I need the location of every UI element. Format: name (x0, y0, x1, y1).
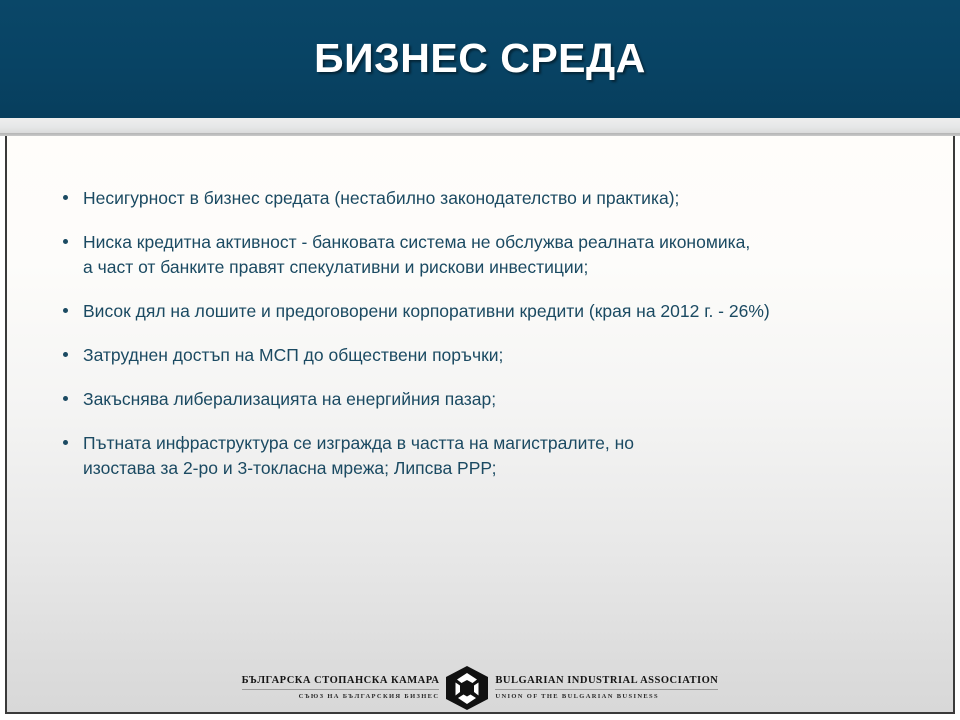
list-item: Висок дял на лошите и предоговорени корп… (59, 299, 939, 324)
list-item-text: Закъснява либерализацията на енергийния … (83, 387, 939, 412)
list-item: Несигурност в бизнес средата (нестабилно… (59, 186, 939, 211)
logo-text-english: BULGARIAN INDUSTRIAL ASSOCIATION UNION O… (490, 675, 718, 701)
logo-bulgarian-primary: БЪЛГАРСКА СТОПАНСКА КАМАРА (242, 675, 440, 687)
slide-header-band: БИЗНЕС СРЕДА (0, 0, 960, 118)
list-item-line-1: Пътната инфраструктура се изгражда в час… (83, 433, 634, 453)
logo-divider-left (242, 689, 440, 690)
list-item-text: Ниска кредитна активност - банковата сис… (83, 230, 939, 280)
list-item: Закъснява либерализацията на енергийния … (59, 387, 939, 412)
logo-bulgarian-secondary: СЪЮЗ НА БЪЛГАРСКИЯ БИЗНЕС (299, 692, 440, 701)
logo-english-primary: BULGARIAN INDUSTRIAL ASSOCIATION (495, 675, 718, 687)
list-item: Ниска кредитна активност - банковата сис… (59, 230, 939, 280)
list-item-line-1: Ниска кредитна активност - банковата сис… (83, 232, 750, 252)
list-item: Пътната инфраструктура се изгражда в час… (59, 431, 939, 481)
header-shelf (0, 118, 960, 133)
slide-root: БИЗНЕС СРЕДА Несигурност в бизнес средат… (0, 0, 960, 720)
bullet-dot-icon (63, 440, 68, 445)
logo-english-secondary: UNION OF THE BULGARIAN BUSINESS (495, 692, 659, 701)
hexagon-emblem-icon (444, 666, 490, 710)
list-item-line-1: Закъснява либерализацията на енергийния … (83, 389, 496, 409)
list-item-line-2: а част от банките правят спекулативни и … (83, 255, 939, 280)
list-item-line-1: Висок дял на лошите и предоговорени корп… (83, 301, 770, 321)
list-item-text: Несигурност в бизнес средата (нестабилно… (83, 186, 939, 211)
bullet-dot-icon (63, 352, 68, 357)
bullet-dot-icon (63, 396, 68, 401)
content-panel: Несигурност в бизнес средата (нестабилно… (5, 136, 955, 714)
bullet-list: Несигурност в бизнес средата (нестабилно… (59, 186, 939, 500)
bullet-dot-icon (63, 239, 68, 244)
list-item-line-2: изостава за 2-ро и 3-токласна мрежа; Лип… (83, 456, 939, 481)
bullet-dot-icon (63, 308, 68, 313)
list-item-text: Пътната инфраструктура се изгражда в час… (83, 431, 939, 481)
list-item-text: Затруднен достъп на МСП до обществени по… (83, 343, 939, 368)
logo-text-bulgarian: БЪЛГАРСКА СТОПАНСКА КАМАРА СЪЮЗ НА БЪЛГА… (242, 675, 445, 701)
list-item: Затруднен достъп на МСП до обществени по… (59, 343, 939, 368)
list-item-text: Висок дял на лошите и предоговорени корп… (83, 299, 939, 324)
list-item-line-1: Затруднен достъп на МСП до обществени по… (83, 345, 503, 365)
logo-divider-right (495, 689, 718, 690)
bullet-dot-icon (63, 195, 68, 200)
list-item-line-1: Несигурност в бизнес средата (нестабилно… (83, 188, 679, 208)
organization-logo: БЪЛГАРСКА СТОПАНСКА КАМАРА СЪЮЗ НА БЪЛГА… (296, 666, 664, 710)
page-title: БИЗНЕС СРЕДА (0, 36, 960, 81)
